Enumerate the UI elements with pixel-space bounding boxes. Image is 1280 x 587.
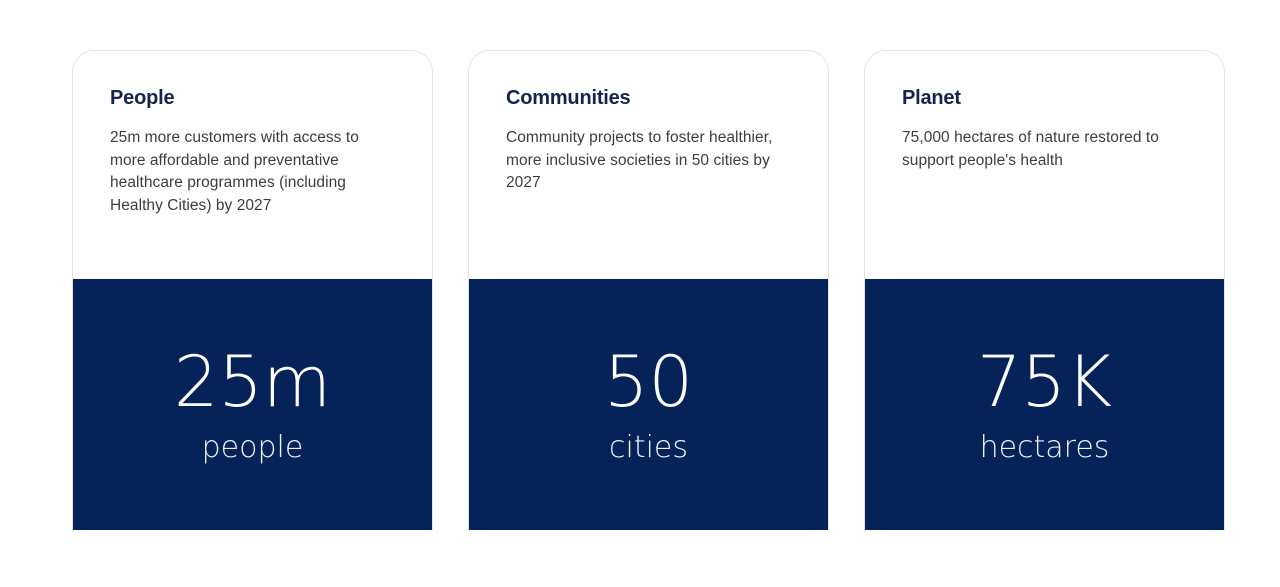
card-people-stat-label: people [202,433,304,463]
card-people-stat-number: 25m [174,347,331,417]
card-people-description: 25m more customers with access to more a… [110,127,385,217]
card-planet-stat-label: hectares [980,433,1110,463]
card-planet-title: Planet [902,87,1192,109]
card-people-stat-panel: 25m people [73,279,432,530]
card-people-title: People [110,87,400,109]
cards-row: People 25m more customers with access to… [72,50,1227,530]
card-planet-text-section: Planet 75,000 hectares of nature restore… [865,51,1224,279]
card-planet-stat-number: 75K [977,347,1112,417]
commitments-cards-board: People 25m more customers with access to… [0,0,1280,587]
card-planet-stat-panel: 75K hectares [865,279,1224,530]
card-people-text-section: People 25m more customers with access to… [73,51,432,279]
card-communities-title: Communities [506,87,796,109]
card-communities-description: Community projects to foster healthier, … [506,127,781,195]
card-communities-stat-label: cities [609,433,688,463]
card-planet[interactable]: Planet 75,000 hectares of nature restore… [864,50,1225,530]
card-communities-text-section: Communities Community projects to foster… [469,51,828,279]
card-communities-stat-panel: 50 cities [469,279,828,530]
card-people[interactable]: People 25m more customers with access to… [72,50,433,530]
card-communities[interactable]: Communities Community projects to foster… [468,50,829,530]
card-planet-description: 75,000 hectares of nature restored to su… [902,127,1177,172]
card-communities-stat-number: 50 [604,347,693,417]
